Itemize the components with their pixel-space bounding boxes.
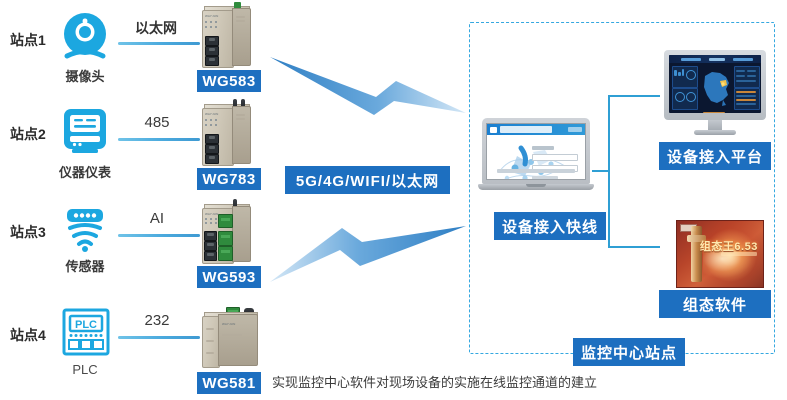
station-label-4: 站点4: [10, 325, 46, 345]
link-line-4: [118, 336, 200, 339]
username-field[interactable]: [532, 154, 578, 161]
node-label-monitor: 设备接入平台: [659, 142, 771, 170]
gateway-model-label-4: WG581: [197, 372, 261, 394]
software-box-image: 组态王6.53: [676, 220, 762, 286]
china-map-graphic: [699, 67, 733, 109]
device-name-1: 摄像头: [52, 66, 118, 85]
link-line-2: [118, 138, 200, 141]
station-label-1: 站点1: [10, 30, 46, 50]
gateway-model-label-2: WG783: [197, 168, 261, 190]
laptop-screen: [486, 123, 586, 180]
app-logo-icon: [490, 127, 497, 133]
center-network-badge: 5G/4G/WIFI/以太网: [285, 166, 450, 194]
protocol-label-2: 485: [122, 114, 192, 131]
link-line-3: [118, 234, 200, 237]
diagram-caption: 实现监控中心软件对现场设备的实施在线监控通道的建立: [272, 372, 597, 391]
camera-icon: [57, 8, 113, 64]
uplink-arrow-top: [268, 55, 468, 135]
plc-icon: PLC: [60, 306, 112, 358]
gateway-device-wg783: WAYJUN: [200, 104, 260, 166]
tree-branch-software: [608, 246, 660, 248]
remember-checkbox[interactable]: [532, 176, 558, 180]
protocol-label-4: 232: [122, 312, 192, 329]
node-label-software: 组态软件: [659, 290, 771, 318]
gateway-model-label-3: WG593: [197, 266, 261, 288]
tree-branch-monitor: [608, 95, 660, 97]
node-label-laptop: 设备接入快线: [494, 212, 606, 240]
meter-icon: [58, 104, 112, 158]
dashboard-screen: [669, 55, 761, 113]
device-name-2: 仪器仪表: [48, 162, 122, 181]
gateway-device-wg583: WAYJUN: [200, 6, 260, 68]
network-topology-diagram: 站点1 摄像头 以太网 WAYJUN WG583 站点2: [0, 0, 787, 400]
tree-branch-laptop: [592, 170, 610, 172]
station-label-2: 站点2: [10, 124, 46, 144]
gateway-device-wg581: WAYJUN: [200, 312, 270, 370]
gateway-device-wg593: WAYJUN: [200, 204, 262, 264]
station-label-3: 站点3: [10, 222, 46, 242]
monitoring-zone-label: 监控中心站点: [573, 338, 685, 366]
uplink-arrow-bottom: [268, 208, 468, 288]
device-name-4: PLC: [55, 362, 115, 377]
svg-text:PLC: PLC: [75, 319, 97, 331]
monitor-device: [664, 50, 766, 138]
link-line-1: [118, 42, 200, 45]
protocol-label-3: AI: [122, 210, 192, 227]
device-name-3: 传感器: [52, 256, 118, 275]
gateway-model-label-1: WG583: [197, 70, 261, 92]
login-form: [532, 146, 578, 180]
sensor-icon: [58, 204, 112, 254]
laptop-device: [478, 118, 594, 194]
protocol-label-1: 以太网: [120, 18, 192, 38]
